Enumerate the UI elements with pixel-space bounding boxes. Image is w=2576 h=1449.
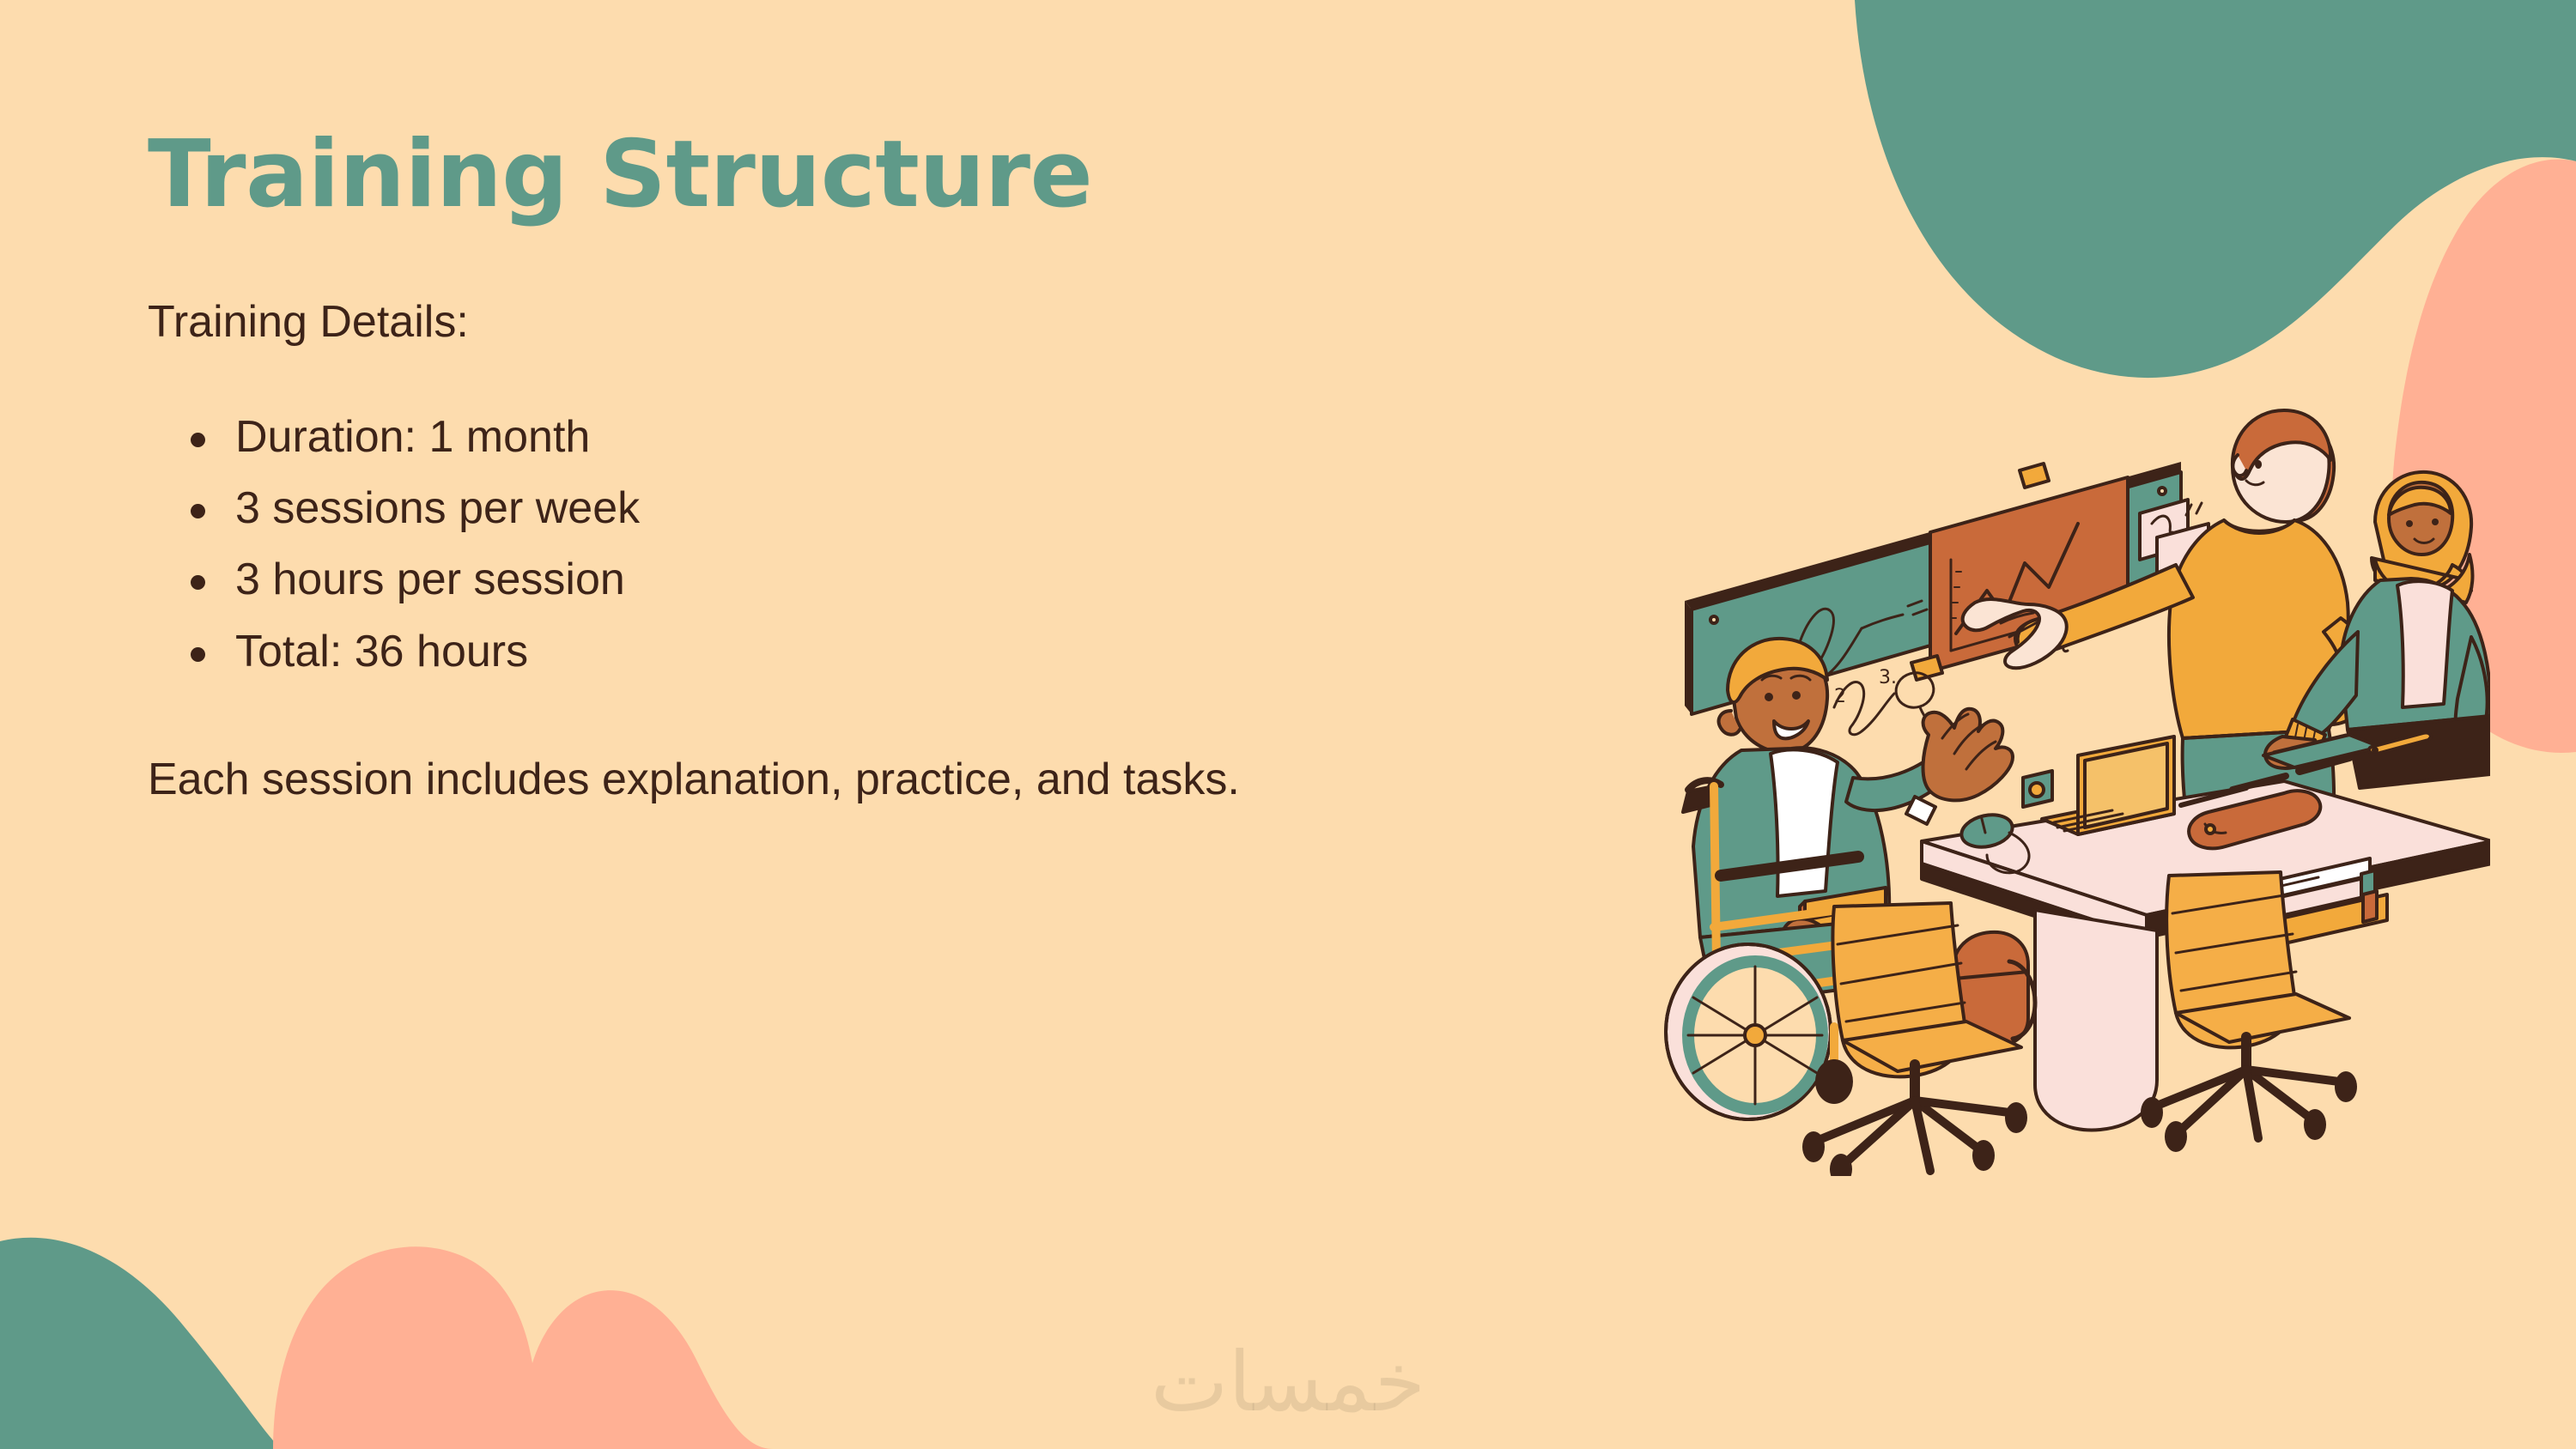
bullet-dot-icon [191, 647, 205, 662]
khamsat-watermark: خمسات [0, 1341, 2576, 1423]
closing-paragraph: Each session includes explanation, pract… [148, 748, 1474, 812]
training-details-label: Training Details: [148, 294, 1659, 352]
list-item-label: 3 sessions per week [235, 483, 640, 533]
svg-text:2: 2 [1834, 686, 1846, 707]
blob-teal-top-right [1855, 0, 2576, 378]
list-item: Duration: 1 month [148, 402, 1659, 473]
slide-canvas: Training Structure Training Details: Dur… [0, 0, 2576, 1449]
list-item: Total: 36 hours [148, 616, 1659, 688]
list-item-label: 3 hours per session [235, 555, 625, 604]
svg-text:3.: 3. [1879, 667, 1897, 688]
slide-text-column: Training Structure Training Details: Dur… [148, 120, 1659, 812]
list-item-label: Duration: 1 month [235, 412, 590, 462]
list-item: 3 hours per session [148, 544, 1659, 615]
training-details-list: Duration: 1 month 3 sessions per week 3 … [148, 402, 1659, 688]
page-title: Training Structure [148, 120, 1659, 229]
bullet-dot-icon [191, 433, 205, 447]
training-classroom-illustration: 3. 2 [1631, 361, 2490, 1176]
list-item-label: Total: 36 hours [235, 627, 528, 676]
list-item: 3 sessions per week [148, 473, 1659, 544]
bullet-dot-icon [191, 575, 205, 590]
bullet-dot-icon [191, 504, 205, 518]
